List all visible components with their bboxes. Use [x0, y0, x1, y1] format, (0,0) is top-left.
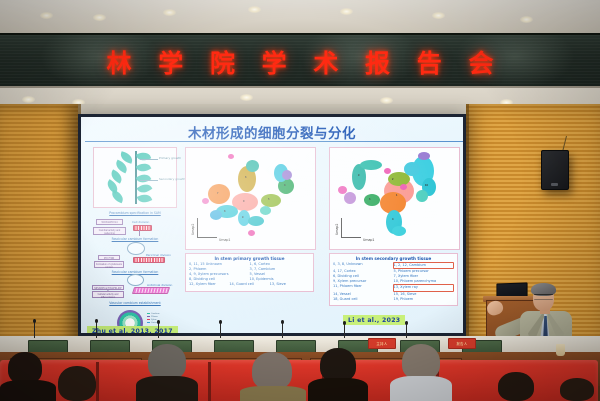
- microphone-icon: [220, 323, 221, 338]
- drinking-cup: [556, 344, 565, 356]
- umap-x-axis-label: Umap1: [363, 238, 374, 242]
- ring-legend-label: Cambium: [151, 313, 160, 315]
- microphone-icon: [406, 324, 407, 338]
- slide-title: 木材形成的细胞分裂与分化: [81, 122, 463, 142]
- projection-screen: 木材形成的细胞分裂与分化 Primary growth Secondary gr…: [81, 117, 463, 333]
- ceiling-downlight: [93, 14, 106, 21]
- flow-heading-2: Fascicular cambium formation: [89, 237, 181, 241]
- umap-x-axis: [197, 237, 217, 238]
- audience-body: [0, 380, 56, 401]
- glasses-icon: [534, 294, 553, 300]
- led-banner: 林 学 院 学 术 报 告 会: [0, 33, 600, 91]
- audience-head: [498, 372, 534, 401]
- umap-cluster: [392, 226, 406, 236]
- seat-divider: [208, 362, 211, 401]
- seat-divider: [96, 362, 99, 401]
- cell-file-diagram: [133, 225, 152, 231]
- nameplate: 主持人: [368, 338, 396, 349]
- leaf-icon: [136, 150, 151, 163]
- flow-box-formation: Formation of cytokinesis contact: [94, 261, 124, 268]
- ceiling-downlight: [163, 9, 176, 16]
- umap-cluster: [416, 190, 428, 202]
- lecture-hall-photo: 林 学 院 学 术 报 告 会 木材形成的细胞分裂与分化: [0, 0, 600, 401]
- cell-cluster-icon: [127, 242, 145, 255]
- legend-secondary-growth: In stem secondary growth tissue 0, 3, 8,…: [329, 253, 458, 306]
- anticlinal-diagram: [132, 287, 170, 294]
- wall-panel-left: [0, 104, 78, 354]
- umap-plot-primary: 0 7 6 5 3 8 9 Umap2 Umap1: [185, 147, 316, 250]
- ceiling-downlight: [380, 97, 393, 104]
- legend-item: 13, Sieve: [270, 282, 310, 287]
- leaf-icon: [110, 190, 126, 204]
- leader-line: [140, 180, 158, 181]
- umap-x-axis: [341, 237, 361, 238]
- plant-label-primary: Primary growth: [159, 156, 181, 160]
- legend-item-highlighted: 13, Xylem ray: [393, 284, 455, 291]
- audience-head: [320, 348, 356, 382]
- umap-cluster: [208, 184, 230, 204]
- umap-cluster: [400, 184, 407, 190]
- legend-item: 18, Guard cell: [333, 297, 394, 302]
- umap-cluster: [246, 160, 259, 172]
- leaf-icon: [137, 192, 153, 206]
- flow-arrow-label-1: Cell division: [132, 220, 149, 224]
- umap-cluster: [404, 162, 420, 176]
- umap-y-axis-label: Umap2: [191, 224, 195, 235]
- umap-cluster: [418, 152, 430, 160]
- umap-cluster: [364, 194, 380, 206]
- umap-cluster: [248, 230, 255, 236]
- umap-y-axis: [197, 218, 198, 238]
- umap-cluster: [260, 206, 271, 215]
- microphone-icon: [282, 323, 283, 338]
- legend-item: 14, Guard cell: [229, 282, 269, 287]
- audience-head: [252, 352, 292, 390]
- umap-cluster: [360, 160, 382, 170]
- cell-cluster-icon: [127, 274, 144, 286]
- citation-left: Zhu et al. 2013, 2017: [87, 326, 178, 333]
- audience-head: [402, 344, 440, 380]
- flow-heading-1: Procambium specification in SAM: [89, 211, 181, 215]
- plant-diagram-panel: Primary growth Secondary growth: [93, 147, 177, 208]
- umap-cluster: [210, 210, 222, 220]
- legend-item: 11, Phloem fiber: [333, 284, 393, 291]
- umap-cluster: [384, 168, 391, 174]
- ceiling-downlight: [240, 94, 253, 101]
- nameplate: 报告人: [448, 338, 476, 349]
- flow-box-cambial: Cambial activity and patterning: [93, 227, 126, 235]
- leaf-icon: [136, 160, 152, 174]
- ring-legend-label: Phloem: [151, 316, 158, 318]
- umap-cluster: [202, 198, 209, 204]
- title-divider: [85, 141, 463, 142]
- flow-heading-3: Vascular cambium establishment: [89, 301, 181, 305]
- legend-title: In stem primary growth tissue: [189, 256, 310, 261]
- legend-title: In stem secondary growth tissue: [333, 256, 454, 261]
- leader-line: [140, 159, 158, 160]
- flow-box-mp: MP/ARF5 & PIN1/HD-ZIP III: [92, 285, 124, 290]
- projection-screen-frame: 木材形成的细胞分裂与分化 Primary growth Secondary gr…: [78, 114, 466, 336]
- umap-cluster: [282, 170, 292, 180]
- flow-box-pxy: PXY/TDR: [98, 255, 120, 260]
- ceiling-downlight: [520, 16, 533, 23]
- microphone-icon: [34, 322, 35, 338]
- audience-body: [240, 386, 306, 401]
- ceiling-downlight: [248, 6, 261, 13]
- umap-cluster: [228, 154, 234, 159]
- microphone-icon: [344, 324, 345, 338]
- legend-item: 0, 3, 8, Unknown: [333, 262, 393, 269]
- wall-seam: [466, 104, 469, 354]
- umap-plot-secondary: 1 2 6 10 4 9 Umap2 Umap1: [329, 147, 460, 250]
- microphone-icon: [158, 323, 159, 338]
- audience-head: [560, 378, 594, 401]
- audience-body: [390, 376, 452, 401]
- ceiling: [0, 0, 600, 34]
- umap-x-axis-label: Umap1: [219, 238, 230, 242]
- legend-item: 12, Xylem fiber: [189, 282, 229, 287]
- flowchart-panel: Procambium specification in SAM WOX4/WOX…: [89, 211, 181, 309]
- ceiling-downlight: [432, 12, 445, 19]
- periclinal-diagram: [133, 257, 165, 263]
- legend-item-highlighted: 1, 2, 12, Cambium: [393, 262, 455, 269]
- flow-arrow: [139, 230, 140, 236]
- umap-cluster: [248, 216, 264, 226]
- audience-head: [58, 366, 96, 401]
- ceiling-downlight: [40, 12, 53, 19]
- umap-cluster: [344, 192, 356, 204]
- audience-body: [308, 378, 368, 401]
- microphone-icon: [96, 322, 97, 338]
- citation-right: Li et al., 2023: [343, 315, 405, 325]
- ceiling-downlight: [340, 8, 353, 15]
- ring-legend-label: Xylem: [151, 319, 157, 321]
- audience-head: [148, 344, 186, 380]
- umap-y-axis: [341, 218, 342, 238]
- ceiling-downlight: [22, 96, 35, 103]
- ring-legend-label: Cortex: [151, 322, 157, 324]
- legend-item: 19, Phloem: [394, 297, 455, 302]
- flow-box-wox: WOX4/WOX14: [96, 219, 123, 225]
- audience-body: [136, 376, 198, 401]
- flow-box-cellular: Cellular activity and differentiation: [92, 291, 124, 298]
- umap-cluster: [338, 186, 347, 194]
- wall-speaker-icon: [541, 150, 569, 190]
- led-banner-text: 林 学 院 学 术 报 告 会: [98, 44, 503, 80]
- plant-label-secondary: Secondary growth: [159, 177, 185, 181]
- legend-primary-growth: In stem primary growth tissue 0, 11, 15 …: [185, 253, 314, 292]
- umap-y-axis-label: Umap2: [335, 224, 339, 235]
